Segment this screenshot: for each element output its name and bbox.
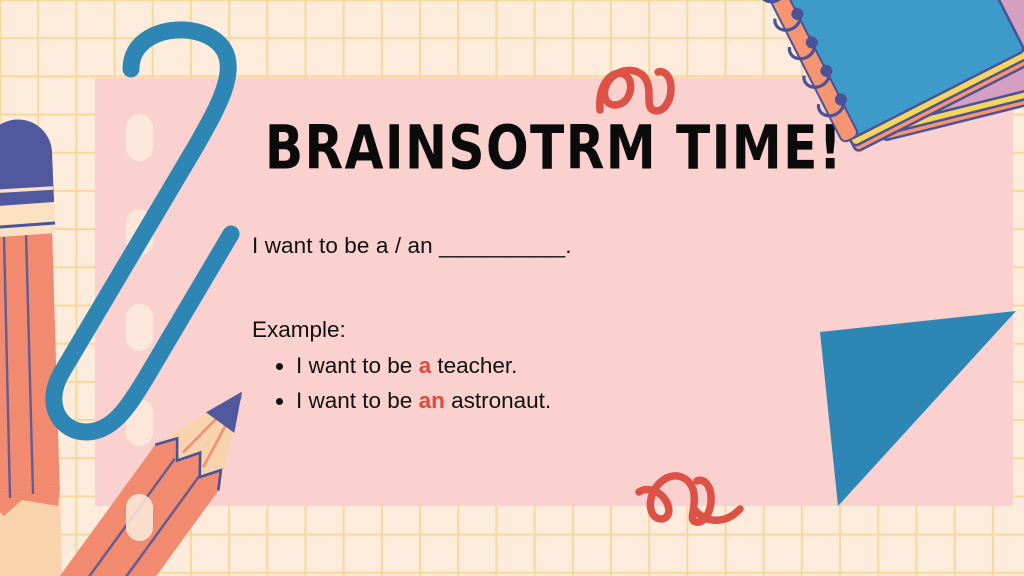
punch-hole-icon xyxy=(126,494,153,541)
example-2-after: astronaut. xyxy=(445,388,551,413)
slide-canvas: BRAINSOTRM TIME! I want to be a / an ___… xyxy=(0,0,1024,576)
list-item: I want to be a teacher. xyxy=(296,349,812,384)
prompt-sentence: I want to be a / an __________. xyxy=(252,233,812,260)
punch-hole-icon xyxy=(126,209,153,256)
page-title: BRAINSOTRM TIME! xyxy=(127,118,981,178)
punch-hole-icon xyxy=(126,304,153,351)
body-content: I want to be a / an __________. Example:… xyxy=(252,233,812,419)
example-label: Example: xyxy=(252,317,812,344)
punch-hole-icon xyxy=(126,399,153,446)
example-1-after: teacher. xyxy=(431,353,517,378)
example-2-highlight: an xyxy=(419,388,445,413)
example-1-before: I want to be xyxy=(296,353,419,378)
example-2-before: I want to be xyxy=(296,388,419,413)
list-item: I want to be an astronaut. xyxy=(296,384,812,419)
example-1-highlight: a xyxy=(419,353,432,378)
example-list: I want to be a teacher. I want to be an … xyxy=(252,349,812,419)
